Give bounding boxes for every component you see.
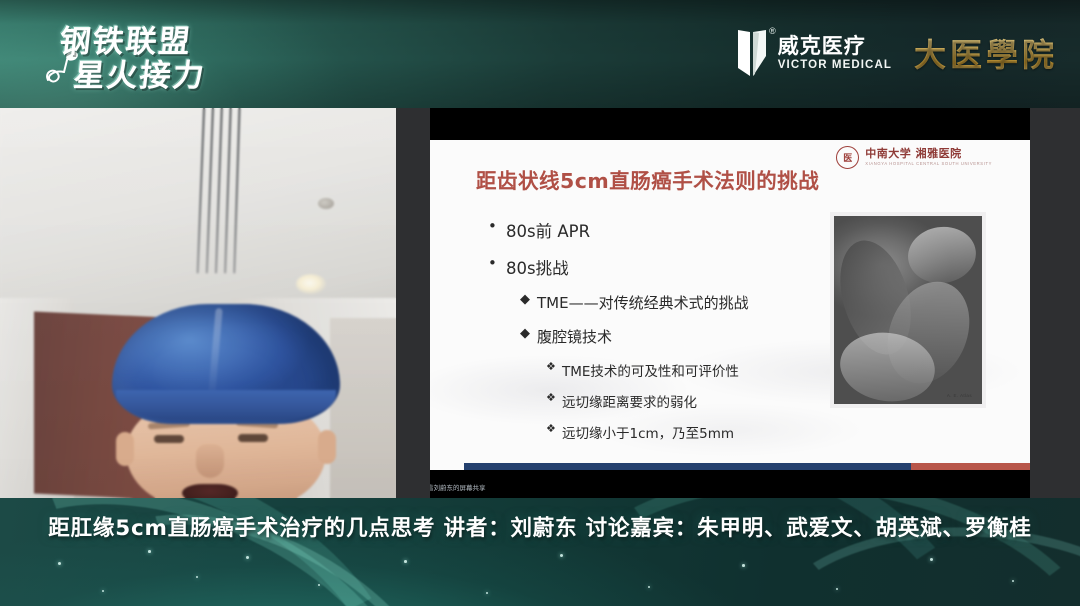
- victor-medical-name: 威克医疗 VICTOR MEDICAL: [778, 35, 892, 71]
- sponsor-logos: ® 威克医疗 VICTOR MEDICAL 大医學院: [735, 18, 1058, 88]
- slide-title: 距齿状线5cm直肠癌手术法则的挑战: [476, 164, 819, 194]
- bullet-text: 远切缘距离要求的弱化: [562, 391, 697, 411]
- program-logo: 钢铁联盟 星火接力: [36, 14, 236, 94]
- speaker-ear-left: [116, 432, 134, 466]
- academy-logo: 大医學院: [914, 30, 1058, 76]
- institution-name-cn: 中南大学 湘雅医院: [865, 148, 992, 160]
- list-item: ◆ TME——对传统经典术式的挑战: [482, 292, 832, 313]
- surgical-anatomy-illustration: A. E. Atlas: [830, 212, 986, 408]
- bullet-text: TME技术的可及性和可评价性: [562, 360, 739, 380]
- victor-medical-logo: ® 威克医疗 VICTOR MEDICAL: [735, 28, 892, 78]
- bullet-text: TME——对传统经典术式的挑战: [537, 292, 749, 313]
- slide-bullet-list: • 80s前 APR • 80s挑战 ◆ TME——对传统经典术式的挑战 ◆ 腹…: [482, 218, 832, 453]
- victor-v-logo-icon: ®: [735, 28, 769, 78]
- bullet-text: 远切缘小于1cm，乃至5mm: [562, 422, 734, 442]
- list-item: ◆ 腹腔镜技术: [482, 326, 832, 347]
- anatomy-image: A. E. Atlas: [834, 216, 982, 404]
- smoke-detector: [318, 198, 334, 209]
- bullet-marker: •: [488, 218, 506, 235]
- victor-name-cn: 威克医疗: [778, 35, 892, 57]
- registered-mark: ®: [769, 26, 776, 36]
- speaker-ear-right: [318, 430, 336, 464]
- bullet-text: 腹腔镜技术: [537, 326, 612, 347]
- cap-fold: [208, 308, 222, 394]
- bullet-text: 80s前 APR: [506, 218, 590, 242]
- list-item: • 80s前 APR: [482, 218, 832, 242]
- screen-share-label: 您正在查看刘蔚东的屏幕共享: [430, 482, 486, 492]
- illustration-signature: A. E. Atlas: [947, 393, 972, 398]
- list-item: • 80s挑战: [482, 255, 832, 279]
- anatomy-shape-upper: [904, 223, 979, 288]
- speaker-nose: [196, 444, 224, 478]
- meeting-right-margin: [1030, 108, 1080, 498]
- bullet-marker: ❖: [546, 360, 562, 373]
- institution-logo: 医 中南大学 湘雅医院 XIANGYA HOSPITAL CENTRAL SOU…: [836, 146, 992, 169]
- speaker-eye-right: [238, 434, 268, 442]
- slide-accent-bar: [464, 463, 1030, 470]
- bullet-marker: •: [488, 255, 506, 272]
- ceiling-lamp: [296, 274, 326, 294]
- header-bar: 钢铁联盟 星火接力 ® 威克医疗 VICTOR MEDICAL 大医學院: [0, 0, 1080, 108]
- speaker-person: [104, 304, 354, 498]
- program-logo-line2: 星火接力: [72, 50, 209, 95]
- screen-share-text: 您正在查看刘蔚东的屏幕共享: [430, 482, 486, 492]
- list-item: ❖ 远切缘距离要求的弱化: [482, 391, 832, 411]
- banner-title: 距肛缘5cm直肠癌手术治疗的几点思考 讲者：刘蔚东 讨论嘉宾：朱甲明、武爱文、胡…: [48, 511, 1031, 542]
- meeting-area: 医 中南大学 湘雅医院 XIANGYA HOSPITAL CENTRAL SOU…: [0, 108, 1080, 498]
- institution-name-en: XIANGYA HOSPITAL CENTRAL SOUTH UNIVERSIT…: [865, 162, 992, 167]
- bullet-marker: ❖: [546, 422, 562, 435]
- screen-share-region[interactable]: 医 中南大学 湘雅医院 XIANGYA HOSPITAL CENTRAL SOU…: [430, 108, 1030, 498]
- speaker-eye-left: [154, 435, 184, 443]
- list-item: ❖ 远切缘小于1cm，乃至5mm: [482, 422, 832, 442]
- broadcast-stage: 钢铁联盟 星火接力 ® 威克医疗 VICTOR MEDICAL 大医學院: [0, 0, 1080, 606]
- victor-name-en: VICTOR MEDICAL: [778, 59, 892, 71]
- list-item: ❖ TME技术的可及性和可评价性: [482, 360, 832, 380]
- banner-text-wrapper: 距肛缘5cm直肠癌手术治疗的几点思考 讲者：刘蔚东 讨论嘉宾：朱甲明、武爱文、胡…: [0, 498, 1080, 606]
- speaker-mouth: [182, 484, 238, 498]
- institution-name-block: 中南大学 湘雅医院 XIANGYA HOSPITAL CENTRAL SOUTH…: [865, 148, 992, 167]
- bullet-marker: ❖: [546, 391, 562, 404]
- xiangya-seal-icon: 医: [836, 146, 859, 169]
- bullet-text: 80s挑战: [506, 255, 569, 279]
- cap-band: [116, 390, 336, 420]
- bullet-marker: ◆: [520, 292, 537, 307]
- bullet-marker: ◆: [520, 326, 537, 341]
- speaker-video-tile[interactable]: [0, 108, 396, 498]
- tile-divider: [396, 108, 430, 498]
- ceiling-vent: [195, 108, 247, 273]
- lower-third-banner: 距肛缘5cm直肠癌手术治疗的几点思考 讲者：刘蔚东 讨论嘉宾：朱甲明、武爱文、胡…: [0, 498, 1080, 606]
- presentation-slide[interactable]: 医 中南大学 湘雅医院 XIANGYA HOSPITAL CENTRAL SOU…: [430, 140, 1030, 470]
